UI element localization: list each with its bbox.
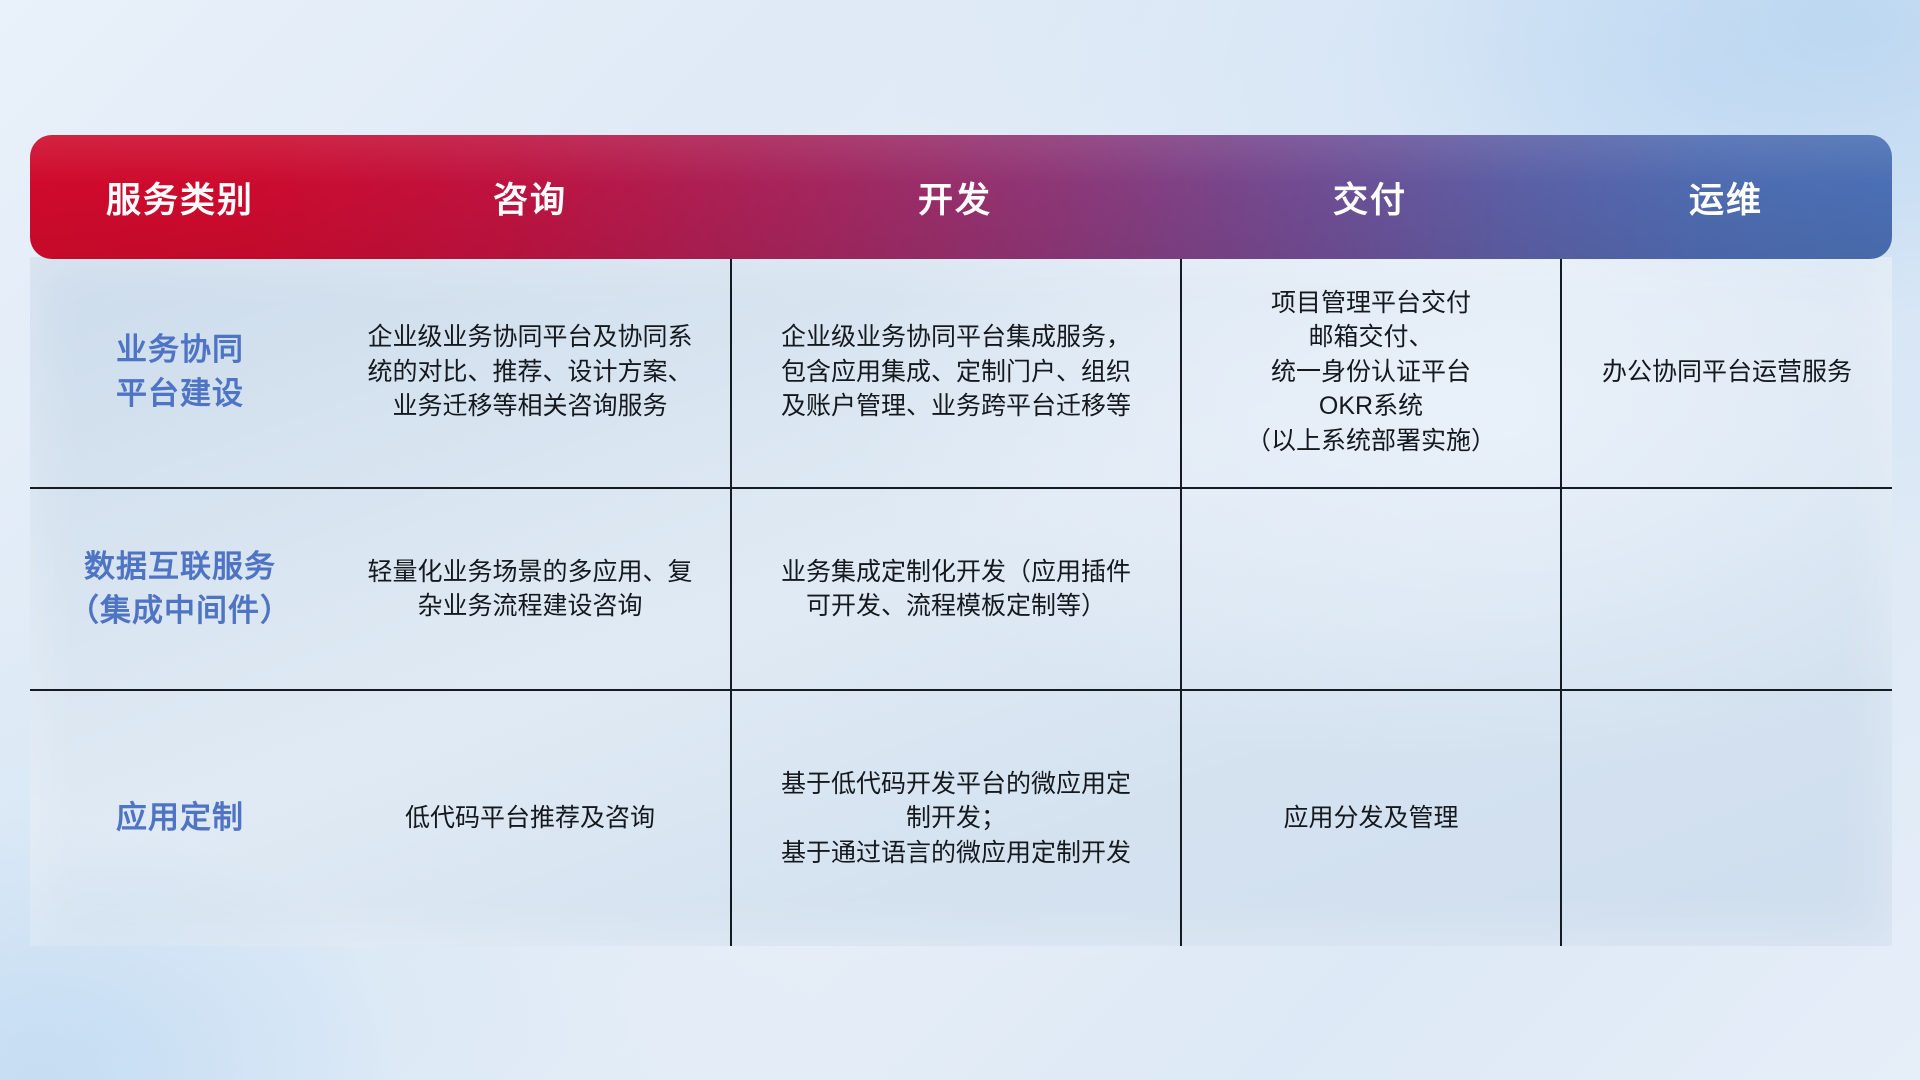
column-header-consulting: 咨询	[330, 172, 730, 223]
cell-development-row-1: 企业级业务协同平台集成服务， 包含应用集成、定制门户、组织 及账户管理、业务跨平…	[730, 257, 1180, 487]
column-header-category: 服务类别	[30, 172, 330, 223]
cell-delivery-row-3: 应用分发及管理	[1180, 691, 1560, 946]
cell-operations-row-3	[1560, 691, 1892, 946]
table-row: 应用定制 低代码平台推荐及咨询 基于低代码开发平台的微应用定 制开发； 基于通过…	[30, 689, 1892, 946]
column-header-delivery: 交付	[1180, 172, 1560, 223]
column-header-operations: 运维	[1560, 172, 1892, 223]
table-body: 业务协同 平台建设 企业级业务协同平台及协同系 统的对比、推荐、设计方案、 业务…	[30, 257, 1892, 946]
table-row: 业务协同 平台建设 企业级业务协同平台及协同系 统的对比、推荐、设计方案、 业务…	[30, 257, 1892, 487]
cell-delivery-row-2	[1180, 489, 1560, 689]
row-label-app-customization: 应用定制	[30, 691, 330, 946]
column-header-development: 开发	[730, 172, 1180, 223]
table-header-row: 服务类别 咨询 开发 交付 运维	[30, 135, 1892, 259]
cell-consulting-row-2: 轻量化业务场景的多应用、复 杂业务流程建设咨询	[330, 489, 730, 689]
cell-operations-row-2	[1560, 489, 1892, 689]
service-matrix-table: 服务类别 咨询 开发 交付 运维 业务协同 平台建设 企业级业务协同平台及协同系…	[30, 135, 1892, 950]
cell-delivery-row-1: 项目管理平台交付 邮箱交付、 统一身份认证平台 OKR系统 （以上系统部署实施）	[1180, 257, 1560, 487]
cell-development-row-3: 基于低代码开发平台的微应用定 制开发； 基于通过语言的微应用定制开发	[730, 691, 1180, 946]
cell-consulting-row-1: 企业级业务协同平台及协同系 统的对比、推荐、设计方案、 业务迁移等相关咨询服务	[330, 257, 730, 487]
slide-canvas: 服务类别 咨询 开发 交付 运维 业务协同 平台建设 企业级业务协同平台及协同系…	[0, 0, 1920, 1080]
table-row: 数据互联服务 （集成中间件） 轻量化业务场景的多应用、复 杂业务流程建设咨询 业…	[30, 487, 1892, 689]
row-label-business-collaboration: 业务协同 平台建设	[30, 257, 330, 487]
row-label-data-interconnect: 数据互联服务 （集成中间件）	[30, 489, 330, 689]
cell-consulting-row-3: 低代码平台推荐及咨询	[330, 691, 730, 946]
cell-development-row-2: 业务集成定制化开发（应用插件 可开发、流程模板定制等）	[730, 489, 1180, 689]
cell-operations-row-1: 办公协同平台运营服务	[1560, 257, 1892, 487]
